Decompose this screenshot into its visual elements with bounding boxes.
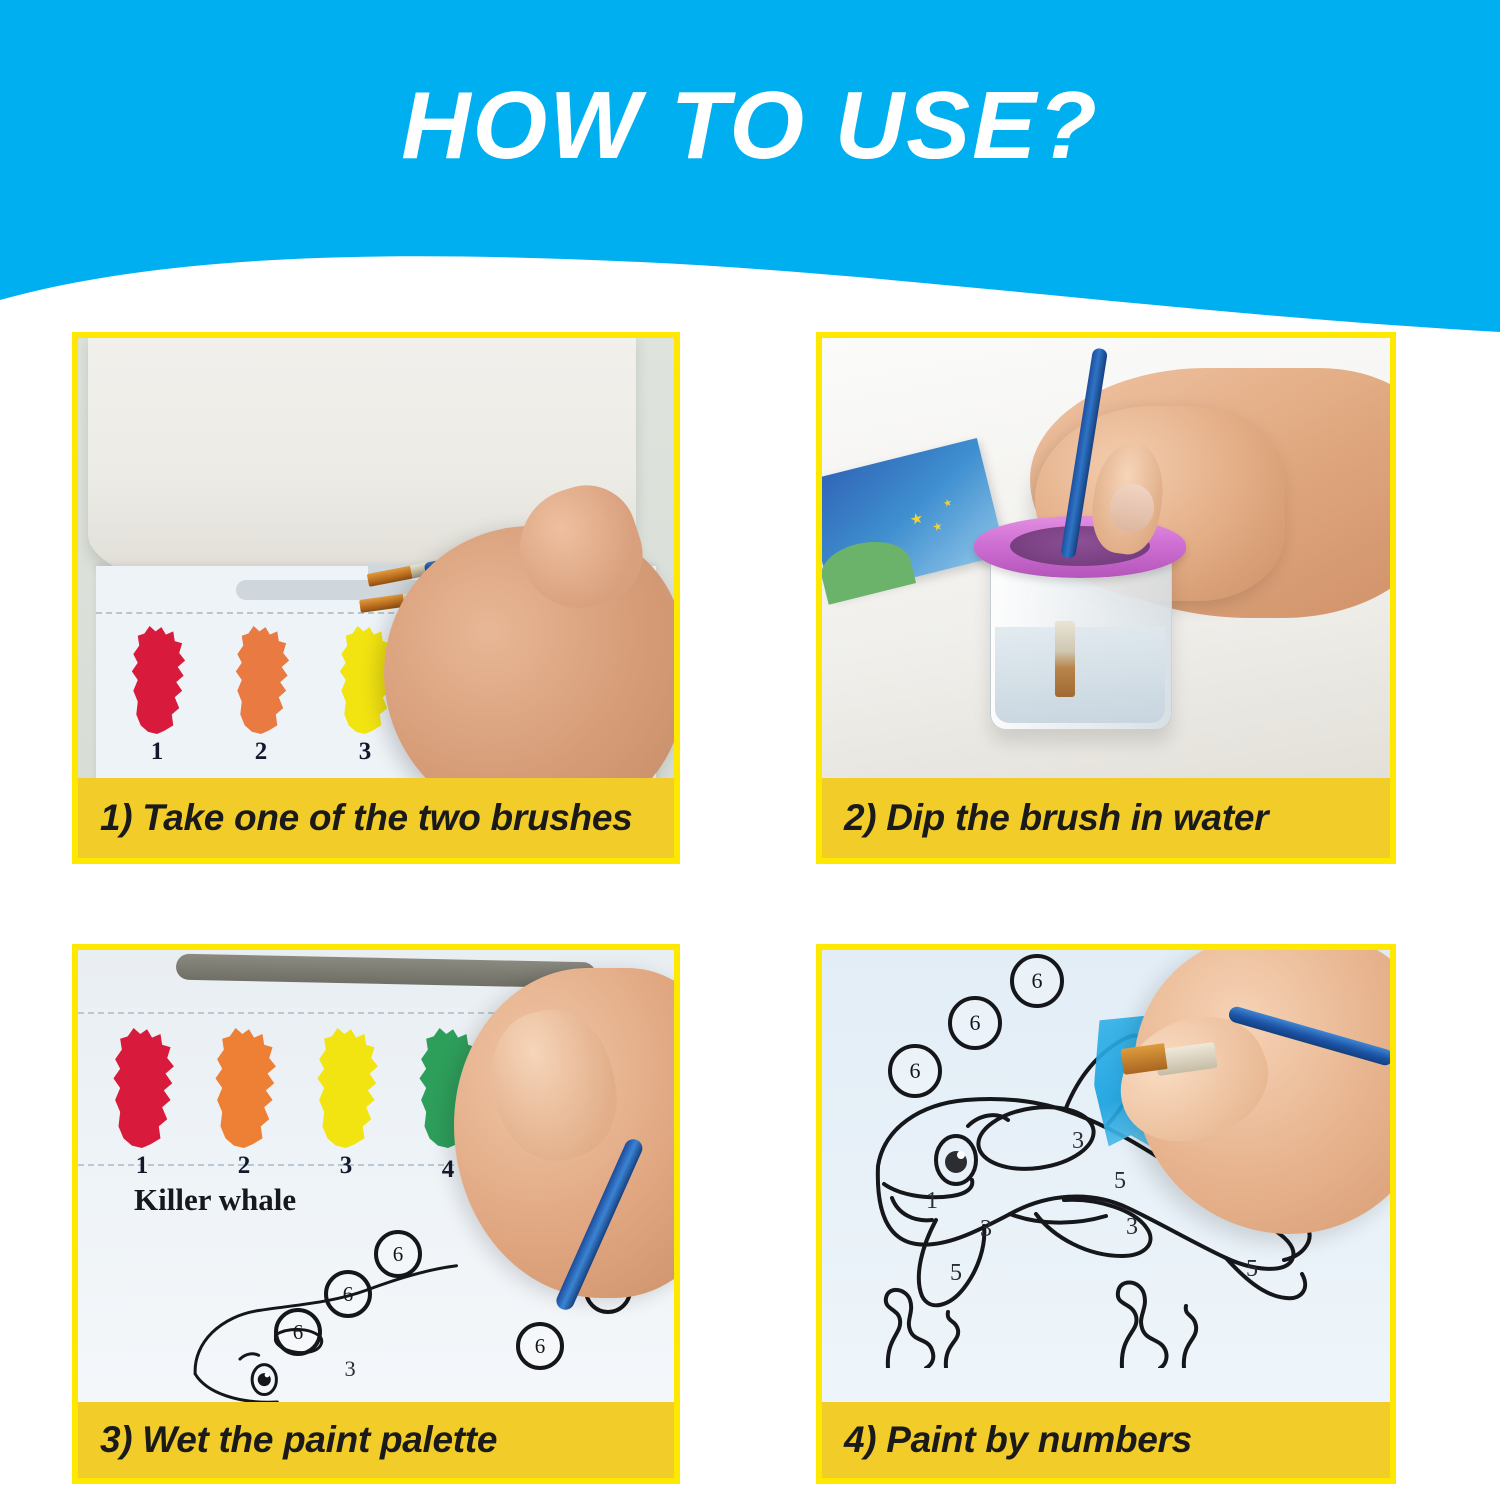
swatch-blob — [202, 1028, 286, 1148]
step-3-photo: 1 2 3 4 5 — [78, 950, 674, 1402]
swatch-blob — [224, 626, 298, 734]
paint-swatch-1: 1 — [100, 1028, 184, 1148]
whale-outline-partial: 3 — [174, 1262, 474, 1402]
whale-part-number-3b: 3 — [980, 1216, 992, 1242]
step-4-caption: 4) Paint by numbers — [822, 1402, 1390, 1478]
bubble-number: 6 — [516, 1322, 564, 1370]
step-card-1[interactable]: 1 2 3 4 — [72, 332, 680, 864]
bubble-number: 6 — [948, 996, 1002, 1050]
step-4-photo: 3 5 1 3 3 5 5 6 6 — [822, 950, 1390, 1402]
whale-part-number-5b: 5 — [950, 1260, 962, 1286]
whale-part-number-3a: 3 — [1072, 1128, 1084, 1154]
swatch-number: 1 — [120, 738, 194, 766]
whale-part-number-5a: 5 — [1114, 1168, 1126, 1194]
whale-part-number-3c: 3 — [1126, 1214, 1138, 1240]
star-icon — [909, 512, 924, 527]
paint-swatch-2: 2 — [224, 626, 298, 734]
step-card-2[interactable]: 2) Dip the brush in water — [816, 332, 1396, 864]
star-icon — [943, 498, 953, 508]
step-1-photo: 1 2 3 4 — [78, 338, 674, 778]
step-1-caption: 1) Take one of the two brushes — [78, 778, 674, 858]
swatch-blob — [100, 1028, 184, 1148]
whale-part-number-1: 1 — [926, 1188, 938, 1214]
step-3-caption: 3) Wet the paint palette — [78, 1402, 674, 1478]
submerged-brush-tip — [1055, 621, 1075, 697]
swatch-number: 1 — [100, 1152, 184, 1180]
step-2-caption: 2) Dip the brush in water — [822, 778, 1390, 858]
page-label: Killer whale — [134, 1182, 296, 1218]
bubble-number: 6 — [1010, 954, 1064, 1008]
swatch-number: 3 — [328, 738, 402, 766]
whale-part-number-5c: 5 — [1246, 1256, 1258, 1282]
steps-grid: 1 2 3 4 — [0, 0, 1500, 1500]
step-card-3[interactable]: 1 2 3 4 5 — [72, 944, 680, 1484]
swatch-number: 2 — [224, 738, 298, 766]
swatch-blob — [120, 626, 194, 734]
step-card-4[interactable]: 3 5 1 3 3 5 5 6 6 — [816, 944, 1396, 1484]
paint-swatch-1: 1 — [120, 626, 194, 734]
swatch-number: 2 — [202, 1152, 286, 1180]
whale-part-number: 3 — [345, 1356, 356, 1381]
bubble-number: 6 — [888, 1044, 942, 1098]
swatch-blob — [304, 1028, 388, 1148]
water-level — [995, 627, 1165, 723]
paint-swatch-3: 3 — [304, 1028, 388, 1148]
star-icon — [932, 521, 943, 532]
step-2-photo — [822, 338, 1390, 778]
paint-swatch-2: 2 — [202, 1028, 286, 1148]
swatch-number: 3 — [304, 1152, 388, 1180]
